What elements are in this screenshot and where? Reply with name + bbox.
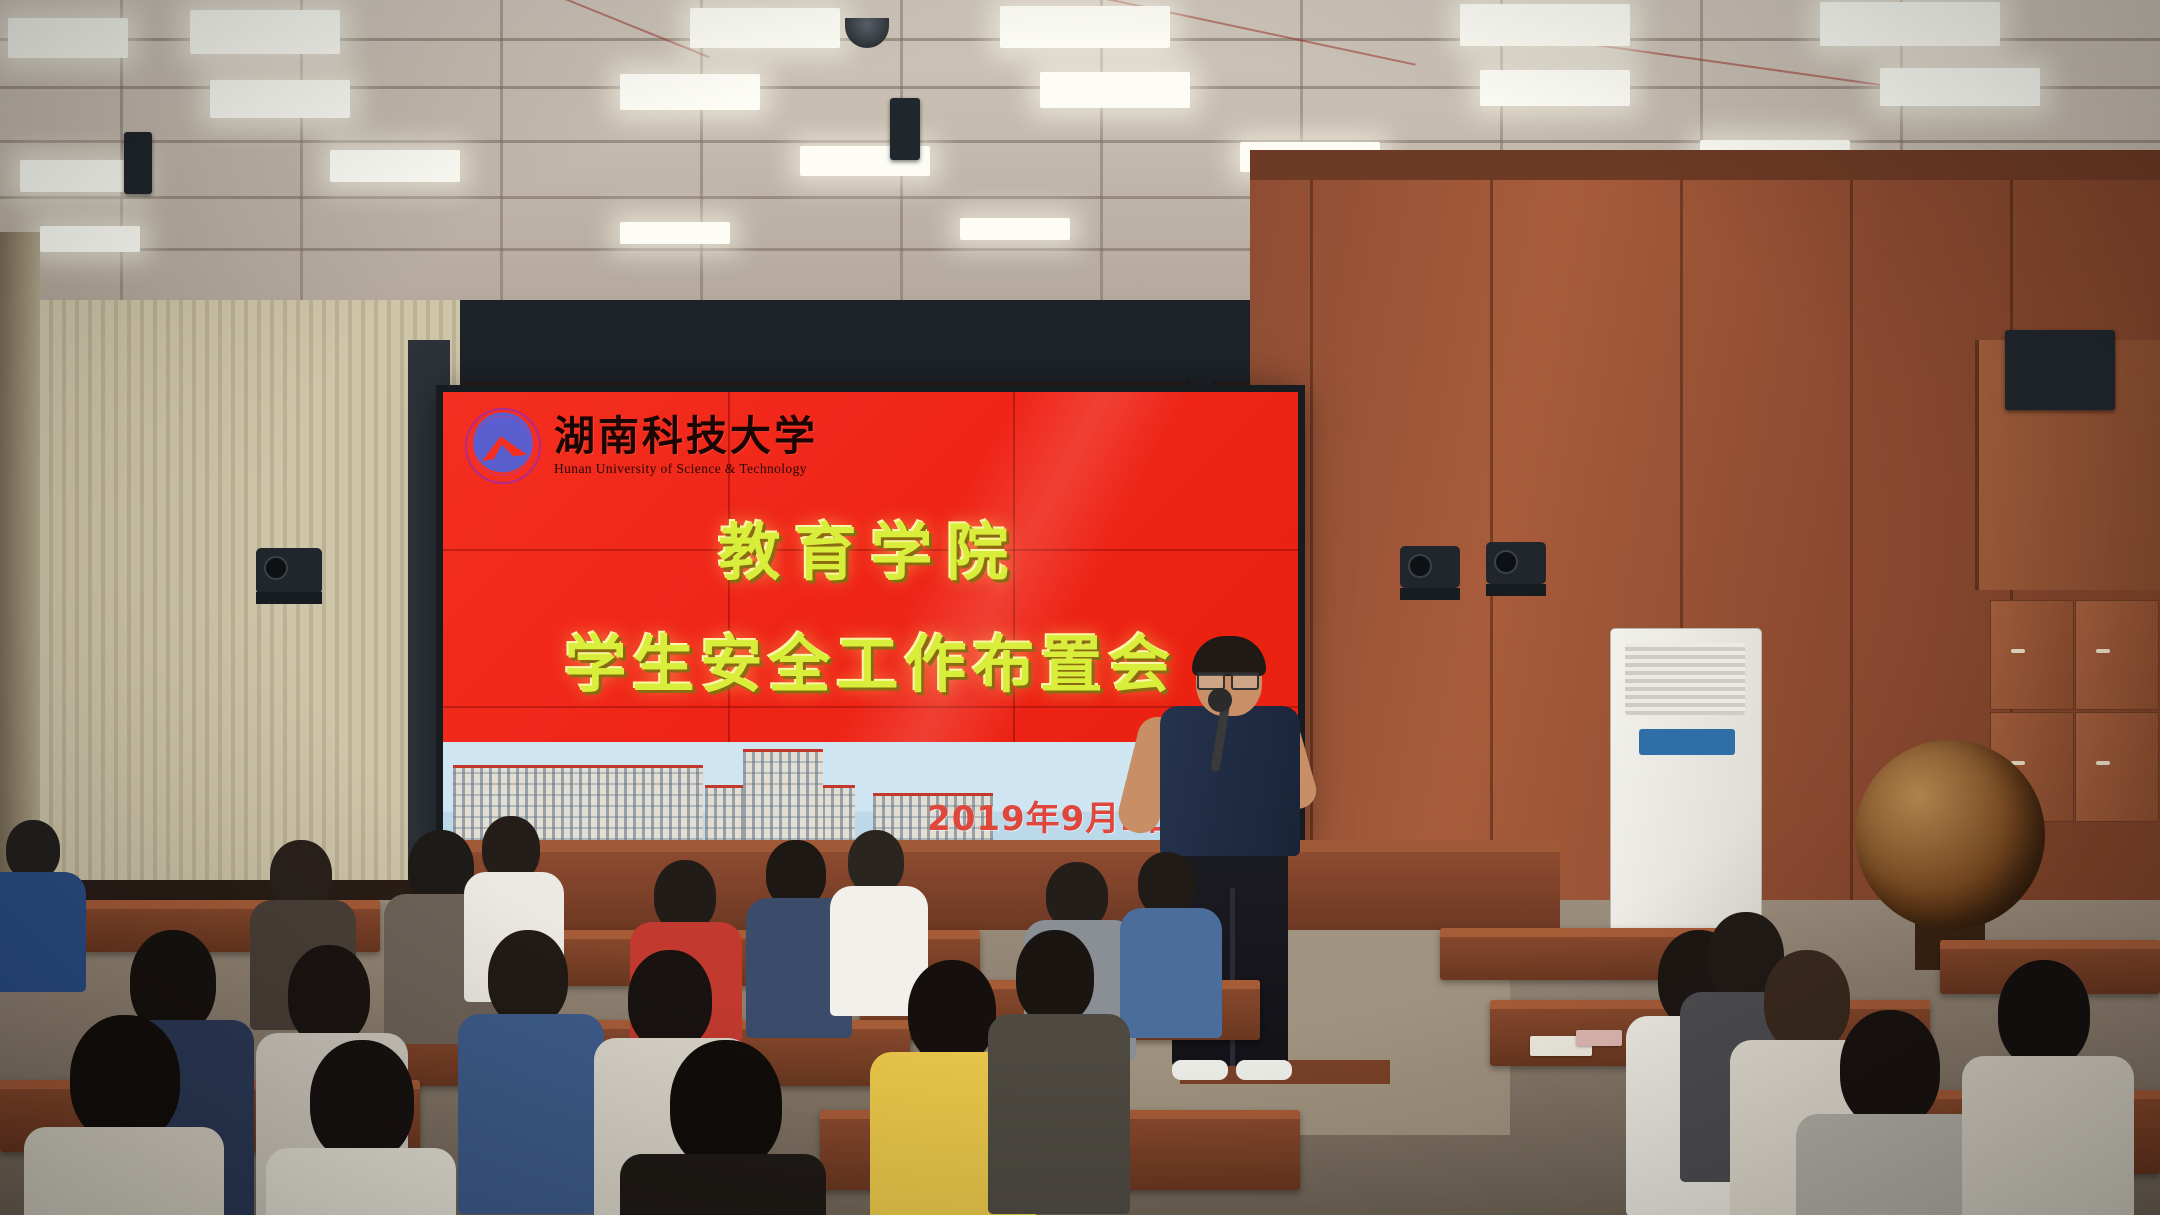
wall-camera-mount (1400, 588, 1460, 600)
wall-cabinet[interactable] (2075, 712, 2159, 822)
wall-camera (1400, 546, 1460, 588)
wall-speaker (2005, 330, 2115, 410)
wall-edge-left (0, 232, 40, 892)
eyeglasses-icon (1197, 672, 1259, 688)
presenter-torso (1160, 706, 1300, 856)
ceiling-light (620, 222, 730, 244)
ceiling-speaker (890, 98, 920, 160)
ceiling-light (1480, 70, 1630, 106)
university-crest-icon (465, 408, 541, 484)
ceiling-light (690, 8, 840, 48)
ceiling-light (1880, 68, 2040, 106)
presenter-shoe (1172, 1060, 1228, 1080)
ceiling-light (40, 226, 140, 252)
ceiling-light (8, 18, 128, 58)
ceiling-light (960, 218, 1070, 240)
microphone-head (1208, 688, 1232, 712)
presenter-shoe (1236, 1060, 1292, 1080)
university-name-cn: 湖南科技大学 (554, 416, 818, 457)
ac-vent (1625, 643, 1745, 715)
university-logo-block: 湖南科技大学 Hunan University of Science & Tec… (465, 408, 818, 484)
wall-camera (256, 548, 322, 594)
stage-front-panel (430, 852, 1560, 930)
air-conditioner[interactable] (1610, 628, 1762, 955)
ceiling-light (20, 160, 140, 192)
wall-cabinet[interactable] (1990, 600, 2074, 710)
wall-camera-mount (1486, 584, 1546, 596)
decorative-globe (1855, 740, 2045, 930)
ceiling-light (1040, 72, 1190, 108)
ceiling-light (190, 10, 340, 54)
ceiling-light (1820, 2, 2000, 46)
ceiling-beam-front (400, 338, 1320, 382)
ceiling-light (330, 150, 460, 182)
wall-camera-mount (256, 592, 322, 604)
banner-title-line1: 教育学院 (443, 502, 1298, 592)
wall-cabinet[interactable] (2075, 600, 2159, 710)
photo-scene: 湖南科技大学 Hunan University of Science & Tec… (0, 0, 2160, 1215)
ceiling-speaker (124, 132, 152, 194)
wall-camera (1486, 542, 1546, 584)
campus-building (743, 749, 823, 840)
ceiling-light (210, 80, 350, 118)
banner-title-line2: 学生安全工作布置会 (443, 614, 1298, 704)
paper-sheet[interactable] (1576, 1030, 1622, 1046)
ceiling-light (620, 74, 760, 110)
slat-wall-left (40, 300, 460, 880)
university-name-en: Hunan University of Science & Technology (554, 461, 818, 477)
ceiling-light (1000, 6, 1170, 48)
ceiling-light (1460, 4, 1630, 46)
ac-display-panel[interactable] (1639, 729, 1735, 755)
